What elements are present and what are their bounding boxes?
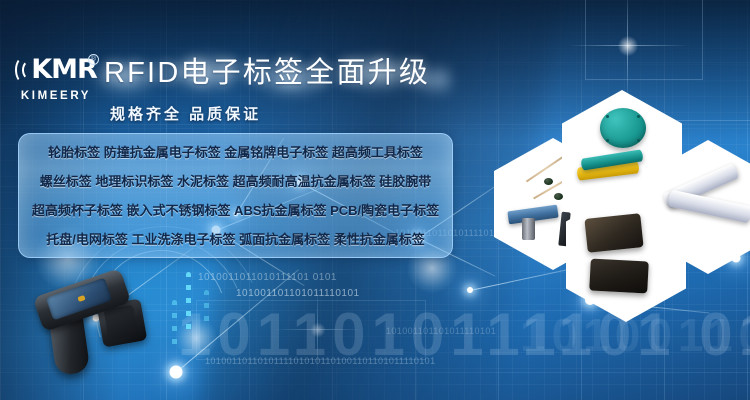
tag-row: 螺丝标签 地理标识标签 水泥标签 超高频耐高温抗金属标签 硅胶腕带 xyxy=(19,167,452,196)
kimeery-logo: KMR ® KIMEERY xyxy=(14,53,98,109)
rfid-banner: 1011010111101 01 101001101101011110101 1… xyxy=(0,0,750,400)
binary-small-text: 101001101101011110101 xyxy=(236,288,360,299)
logo-wordmark: KIMEERY xyxy=(14,90,98,102)
tag-category-panel: 轮胎标签 防撞抗金属电子标签 金属铭牌电子标签 超高频工具标签 螺丝标签 地理标… xyxy=(18,133,453,258)
page-subtitle: 规格齐全 品质保证 xyxy=(110,103,261,124)
tag-row: 轮胎标签 防撞抗金属电子标签 金属铭牌电子标签 超高频工具标签 xyxy=(19,138,452,167)
page-title: RFID电子标签全面升级 xyxy=(104,49,430,91)
abs-anti-metal-tag xyxy=(584,213,643,253)
reader-antenna-face xyxy=(104,305,139,341)
screw-tag-shaft xyxy=(522,218,535,240)
binary-small-text: 1010011011010111101 0101 xyxy=(198,272,337,283)
logo-mark: KMR ® xyxy=(14,53,98,87)
network-node xyxy=(467,287,473,293)
tag-row: 超高频杯子标签 嵌入式不锈钢标签 ABS抗金属标签 PCB/陶瓷电子标签 xyxy=(19,196,452,225)
decor-dot-column xyxy=(172,300,177,346)
uhf-disc-tag xyxy=(600,108,646,148)
handheld-rfid-reader xyxy=(28,276,158,386)
tag-row: 托盘/电网标签 工业洗涤电子标签 弧面抗金属标签 柔性抗金属标签 xyxy=(19,225,452,254)
grid-cross-glow xyxy=(568,0,688,106)
headline-block: RFID电子标签全面升级 xyxy=(104,49,430,91)
screw-tag-bead xyxy=(554,193,563,200)
logo-arc-inner-icon xyxy=(22,60,38,80)
binary-small-text: 1010011011010111101010110100110110101111… xyxy=(205,356,436,366)
screw-tag-bead xyxy=(544,178,553,185)
binary-small-text: 101001101101011110101 xyxy=(386,326,496,336)
abs-anti-metal-tag xyxy=(589,259,649,294)
